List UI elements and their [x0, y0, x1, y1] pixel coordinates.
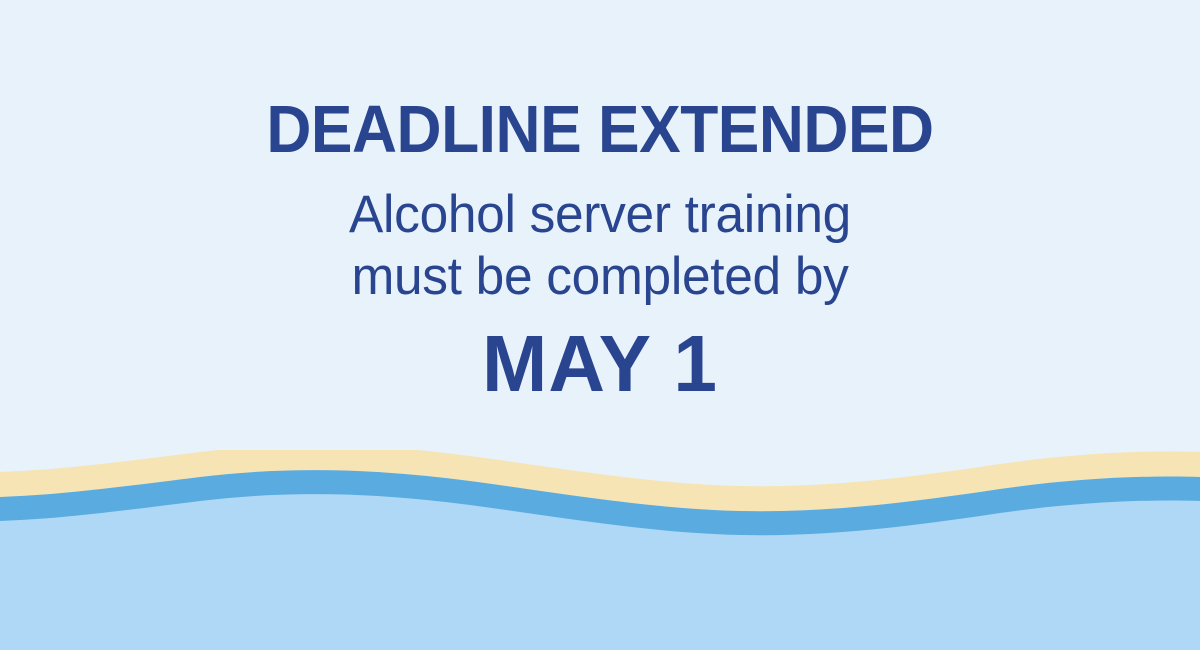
announcement-body-line-2: must be completed by — [18, 246, 1182, 308]
page-title: DEADLINE EXTENDED — [42, 0, 1158, 164]
wave-decoration — [0, 450, 1200, 650]
announcement-body: Alcohol server training must be complete… — [18, 164, 1182, 308]
announcement-body-line-1: Alcohol server training — [18, 184, 1182, 246]
announcement-text-block: DEADLINE EXTENDED Alcohol server trainin… — [0, 0, 1200, 406]
deadline-date: MAY 1 — [12, 308, 1188, 406]
poster-canvas: DEADLINE EXTENDED Alcohol server trainin… — [0, 0, 1200, 650]
